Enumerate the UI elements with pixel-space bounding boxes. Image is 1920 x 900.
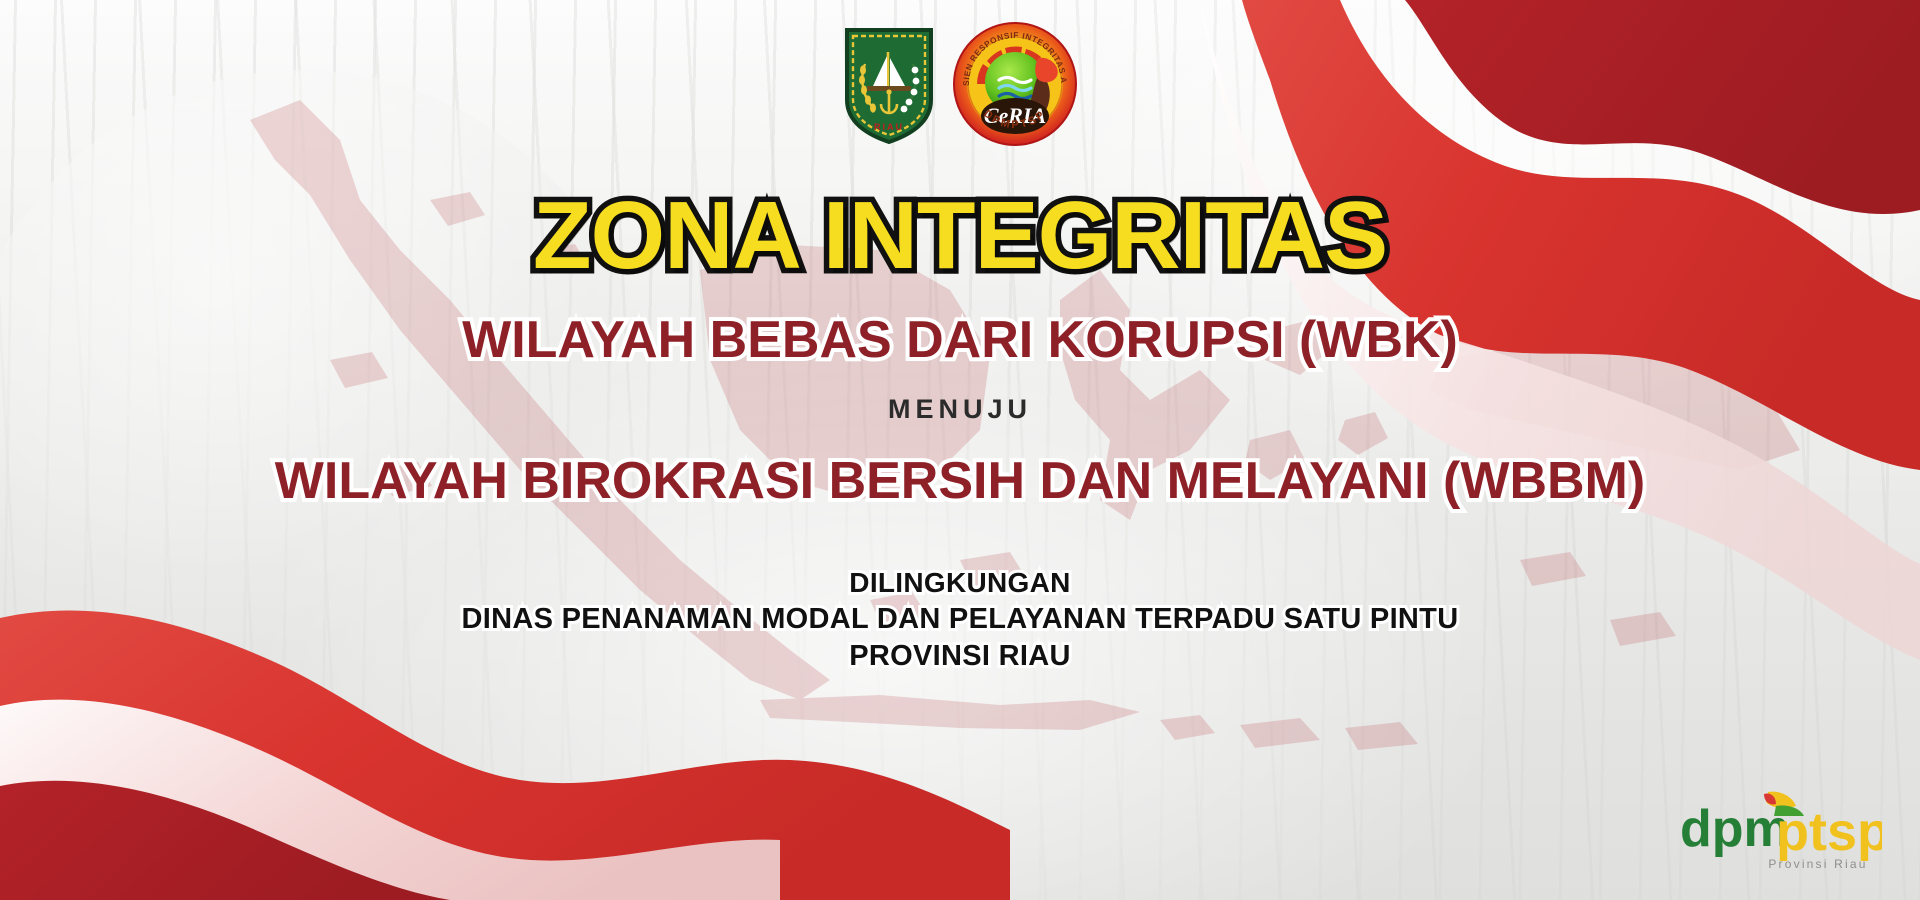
- svg-text:RIAU: RIAU: [874, 122, 904, 132]
- logo-row: RIAU: [843, 26, 1077, 154]
- footer-line-agency: DINAS PENANAMAN MODAL DAN PELAYANAN TERP…: [462, 601, 1459, 638]
- footer-line-province: PROVINSI RIAU: [462, 638, 1459, 675]
- ptsp-text: ptsp: [1776, 802, 1882, 862]
- footer-block: DILINGKUNGAN DINAS PENANAMAN MODAL DAN P…: [462, 565, 1459, 675]
- banner-content: RIAU: [0, 0, 1920, 900]
- riau-coat-of-arms-icon: RIAU: [843, 26, 935, 144]
- dpm-text: dpm: [1680, 800, 1790, 858]
- dpm-tagline: Provinsi Riau: [1768, 857, 1867, 871]
- page-title: ZONA INTEGRITAS: [533, 188, 1387, 284]
- subtitle-wbbm: WILAYAH BIROKRASI BERSIH DAN MELAYANI (W…: [275, 451, 1645, 511]
- label-menuju: MENUJU: [888, 394, 1032, 425]
- dpmptsp-wordmark-icon: dpm ptsp Provinsi Riau: [1672, 784, 1882, 876]
- footer-line-dilingkungan: DILINGKUNGAN: [462, 565, 1459, 601]
- zona-integritas-banner: RIAU: [0, 0, 1920, 900]
- subtitle-wbk: WILAYAH BEBAS DARI KORUPSI (WBK): [462, 310, 1458, 370]
- ceria-dpmptsp-icon: CeRIA CEPAT EFISIEN RESPONSIF INTEGRITAS…: [953, 22, 1077, 146]
